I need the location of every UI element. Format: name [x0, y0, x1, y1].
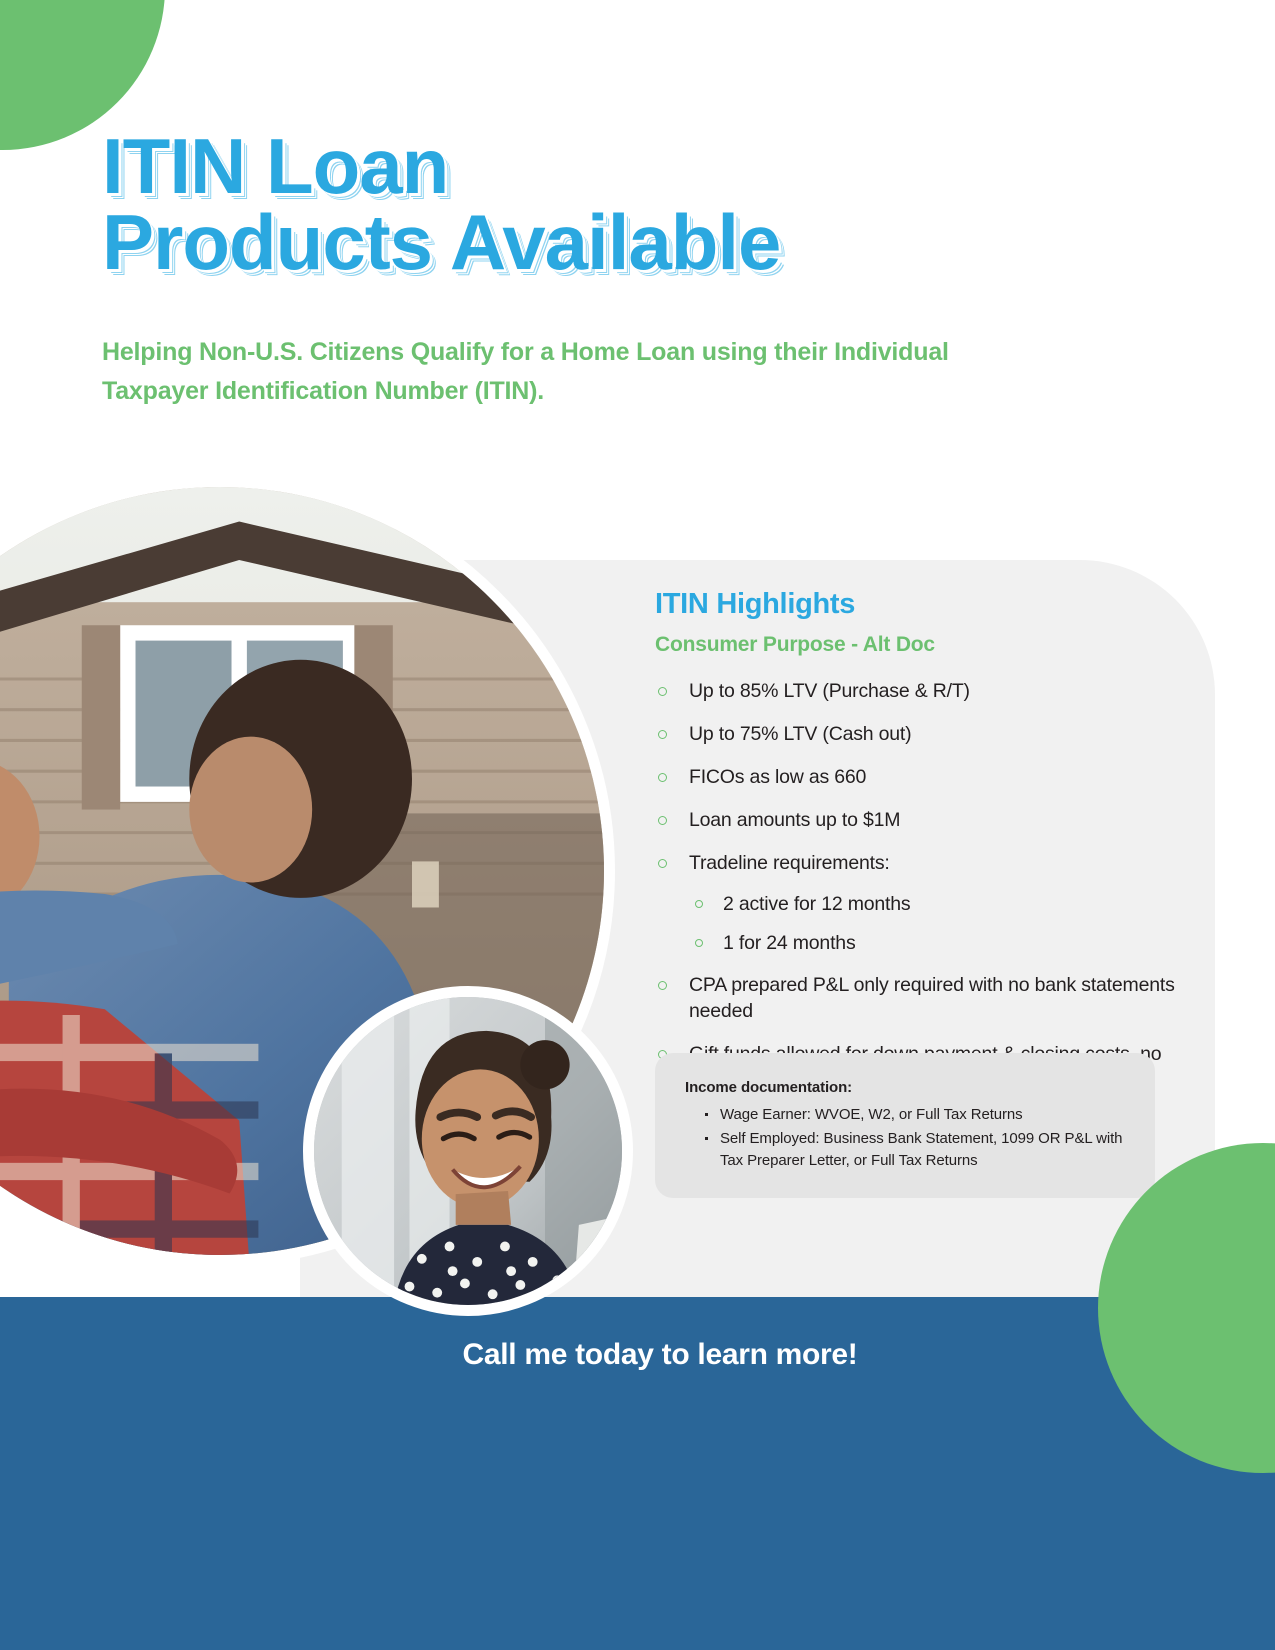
list-item-label: Wage Earner: WVOE, W2, or Full Tax Retur…	[720, 1106, 1023, 1123]
sub-list-item: 2 active for 12 months	[689, 892, 1175, 917]
list-item: CPA prepared P&L only required with no b…	[655, 973, 1175, 1025]
bullet-circle-icon	[658, 687, 667, 696]
bullet-square-icon	[705, 1137, 708, 1140]
list-item-label: Up to 85% LTV (Purchase & R/T)	[689, 680, 970, 702]
list-item-label: Loan amounts up to $1M	[689, 809, 900, 831]
highlights-bullet-list: Up to 85% LTV (Purchase & R/T) Up to 75%…	[655, 679, 1175, 1094]
bullet-circle-icon	[658, 859, 667, 868]
list-item-label: Tradeline requirements:	[689, 852, 890, 874]
page-title: ITIN Loan Products Available	[102, 128, 1162, 281]
call-to-action-text: Call me today to learn more!	[0, 1338, 1275, 1372]
highlights-subtitle: Consumer Purpose - Alt Doc	[655, 633, 1175, 657]
woman-portrait-photo-graphic	[314, 997, 622, 1305]
woman-portrait-photo	[303, 986, 633, 1316]
list-item: Self Employed: Business Bank Statement, …	[703, 1128, 1135, 1171]
page-title-line-1: ITIN Loan	[102, 122, 448, 210]
header: ITIN Loan Products Available Helping Non…	[102, 128, 1162, 412]
tradeline-sub-list: 2 active for 12 months 1 for 24 months	[689, 892, 1175, 957]
list-item: Wage Earner: WVOE, W2, or Full Tax Retur…	[703, 1104, 1135, 1125]
list-item: FICOs as low as 660	[655, 765, 1175, 791]
income-documentation-list: Wage Earner: WVOE, W2, or Full Tax Retur…	[685, 1104, 1135, 1171]
list-item: Up to 75% LTV (Cash out)	[655, 722, 1175, 748]
sub-list-item-label: 1 for 24 months	[723, 932, 856, 954]
list-item-label: FICOs as low as 660	[689, 766, 866, 788]
highlights-title: ITIN Highlights	[655, 588, 1175, 621]
bullet-square-icon	[705, 1113, 708, 1116]
flyer-page: ITIN Loan Products Available Helping Non…	[0, 0, 1275, 1650]
list-item-label: Self Employed: Business Bank Statement, …	[720, 1130, 1122, 1168]
bullet-circle-icon	[695, 900, 703, 908]
list-item-label: Up to 75% LTV (Cash out)	[689, 723, 911, 745]
itin-highlights-section: ITIN Highlights Consumer Purpose - Alt D…	[655, 588, 1175, 1111]
list-item: Up to 85% LTV (Purchase & R/T)	[655, 679, 1175, 705]
sub-list-item: 1 for 24 months	[689, 931, 1175, 956]
bullet-circle-icon	[658, 981, 667, 990]
bullet-circle-icon	[695, 939, 703, 947]
page-subtitle: Helping Non-U.S. Citizens Qualify for a …	[102, 333, 1042, 412]
bullet-circle-icon	[658, 773, 667, 782]
sub-list-item-label: 2 active for 12 months	[723, 893, 910, 915]
page-title-line-2: Products Available	[102, 204, 1162, 280]
list-item-label: CPA prepared P&L only required with no b…	[689, 974, 1175, 1022]
income-documentation-title: Income documentation:	[685, 1079, 1135, 1096]
list-item: Tradeline requirements: 2 active for 12 …	[655, 851, 1175, 957]
list-item: Loan amounts up to $1M	[655, 808, 1175, 834]
income-documentation-box: Income documentation: Wage Earner: WVOE,…	[655, 1053, 1155, 1198]
bullet-circle-icon	[658, 730, 667, 739]
bullet-circle-icon	[658, 816, 667, 825]
